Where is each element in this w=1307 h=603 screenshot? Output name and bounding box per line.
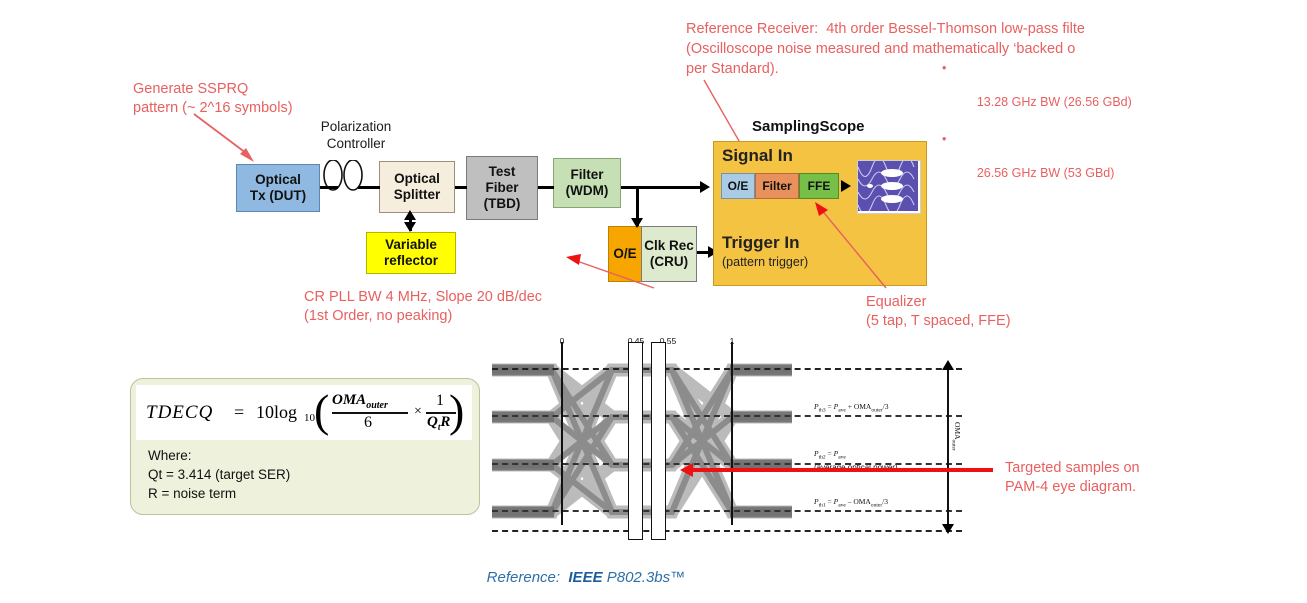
wire-tx-to-coil xyxy=(320,186,338,189)
block-optical-tx-line1: Optical xyxy=(255,172,301,188)
formula-where-block: Where: Qt = 3.414 (target SER) R = noise… xyxy=(148,446,290,503)
leader-generate-pattern-icon xyxy=(190,110,280,170)
oma-arrow-down-icon xyxy=(942,524,954,534)
targeted-samples-pointer-line xyxy=(693,468,993,472)
formula-frac2-numerator: 1 xyxy=(436,392,444,410)
annotation-equalizer: Equalizer (5 tap, T spaced, FFE) xyxy=(866,293,1011,331)
block-filter-wdm-line1: Filter xyxy=(570,167,603,183)
wire-splitter-to-fiber xyxy=(455,186,467,189)
arrow-down-reflector-icon xyxy=(404,222,416,232)
leader-cr-pll-icon xyxy=(558,248,658,292)
formula-denominator: 6 xyxy=(364,414,372,432)
tdecq-formula: TDECQ = 10log 10 ( ) OMAouter 6 × 1 QtR xyxy=(146,392,466,436)
oma-arrow-up-icon xyxy=(942,360,954,370)
arrow-right-signal-in-icon xyxy=(700,181,710,193)
eye-sample-gate-055[interactable] xyxy=(651,342,666,540)
bullet-dot-icon: • xyxy=(942,131,946,148)
block-test-fiber-line2: Fiber xyxy=(485,180,518,196)
bandwidth-bullet-label: 13.28 GHz BW (26.56 GBd) xyxy=(977,95,1132,109)
reference-standard: P802.3bs™ xyxy=(603,569,686,586)
trigger-in-sublabel: (pattern trigger) xyxy=(722,255,808,269)
block-test-fiber[interactable]: Test Fiber (TBD) xyxy=(466,156,538,220)
arrow-down-to-oe-icon xyxy=(631,218,643,228)
formula-lhs: TDECQ xyxy=(146,402,213,424)
block-optical-tx[interactable]: Optical Tx (DUT) xyxy=(236,164,320,212)
block-variable-reflector-line1: Variable xyxy=(385,237,437,253)
wire-coil-to-splitter xyxy=(358,186,380,189)
block-optical-splitter-line2: Splitter xyxy=(394,187,441,203)
wire-fiber-to-filter xyxy=(538,186,554,189)
targeted-samples-arrowhead-icon xyxy=(680,463,693,477)
formula-numerator: OMAouter xyxy=(332,392,388,411)
eye-time-marker-1 xyxy=(731,342,733,525)
signal-in-label: Signal In xyxy=(722,146,793,166)
annotation-reference-receiver-line1: Reference Receiver: 4th order Bessel-Tho… xyxy=(686,20,1246,39)
formula-log: 10log xyxy=(256,402,297,423)
block-optical-splitter-line1: Optical xyxy=(394,171,440,187)
eye-time-marker-0 xyxy=(561,342,563,525)
annotation-targeted-samples: Targeted samples on PAM-4 eye diagram. xyxy=(1005,459,1140,497)
polarization-controller-label: Polarization Controller xyxy=(296,118,416,152)
block-variable-reflector[interactable]: Variable reflector xyxy=(366,232,456,274)
oma-bracket-label: OMAouter xyxy=(951,422,963,451)
block-scope-filter[interactable]: Filter xyxy=(755,173,799,199)
reference-prefix: Reference: xyxy=(487,569,569,586)
arrow-up-reflector-icon xyxy=(404,210,416,220)
sampling-scope-title: SamplingScope xyxy=(752,118,865,135)
formula-frac2-denominator: QtR xyxy=(427,414,450,432)
threshold-label-pth1: Pth1 = Pave – OMAouter/3 xyxy=(814,497,888,509)
threshold-label-pth2: Pth2 = Pave xyxy=(814,449,846,461)
formula-equals: = xyxy=(234,402,244,423)
block-filter-wdm-line2: (WDM) xyxy=(566,183,609,199)
block-scope-filter-label: Filter xyxy=(762,178,791,194)
slide-canvas: Generate SSPRQ pattern (~ 2^16 symbols) … xyxy=(0,0,1307,589)
block-filter-wdm[interactable]: Filter (WDM) xyxy=(553,158,621,208)
block-scope-ffe[interactable]: FFE xyxy=(799,173,839,199)
formula-close-paren: ) xyxy=(449,388,464,434)
bandwidth-bullet-item: • 13.28 GHz BW (26.56 GBd) xyxy=(940,60,1132,128)
block-scope-oe[interactable]: O/E xyxy=(721,173,755,199)
block-test-fiber-line1: Test xyxy=(489,164,516,180)
formula-times: × xyxy=(414,404,422,420)
trigger-in-label: Trigger In xyxy=(722,233,799,253)
pam4-eye-diagram: 0 0.45 0.55 1 xyxy=(492,330,972,545)
block-optical-tx-line2: Tx (DUT) xyxy=(250,188,306,204)
oma-bracket-line xyxy=(947,370,949,532)
block-scope-oe-label: O/E xyxy=(728,178,749,194)
block-test-fiber-line3: (TBD) xyxy=(484,196,521,212)
annotation-cr-pll: CR PLL BW 4 MHz, Slope 20 dB/dec (1st Or… xyxy=(304,288,542,326)
bandwidth-bullet-item: • 26.56 GHz BW (53 GBd) xyxy=(940,131,1132,199)
arrow-right-to-eye-thumb-icon xyxy=(841,180,851,192)
wire-filter-to-scope-signal xyxy=(639,186,705,189)
block-scope-ffe-label: FFE xyxy=(808,178,831,194)
reference-org: IEEE xyxy=(568,569,602,586)
leader-equalizer-icon xyxy=(810,200,896,292)
annotation-reference-receiver-line2: (Oscilloscope noise measured and mathema… xyxy=(686,40,1246,59)
formula-open-paren: ( xyxy=(314,388,329,434)
bullet-dot-icon: • xyxy=(942,60,946,77)
block-variable-reflector-line2: reflector xyxy=(384,253,438,269)
reference-line: Reference: IEEE P802.3bs™ xyxy=(470,552,685,603)
eye-sample-gate-045[interactable] xyxy=(628,342,643,540)
bandwidth-bullet-list: • 13.28 GHz BW (26.56 GBd) • 26.56 GHz B… xyxy=(940,60,1132,199)
block-optical-splitter[interactable]: Optical Splitter xyxy=(379,161,455,213)
threshold-label-pth3: Pth3 = Pave + OMAouter/3 xyxy=(814,402,888,414)
bandwidth-bullet-label: 26.56 GHz BW (53 GBd) xyxy=(977,166,1115,180)
